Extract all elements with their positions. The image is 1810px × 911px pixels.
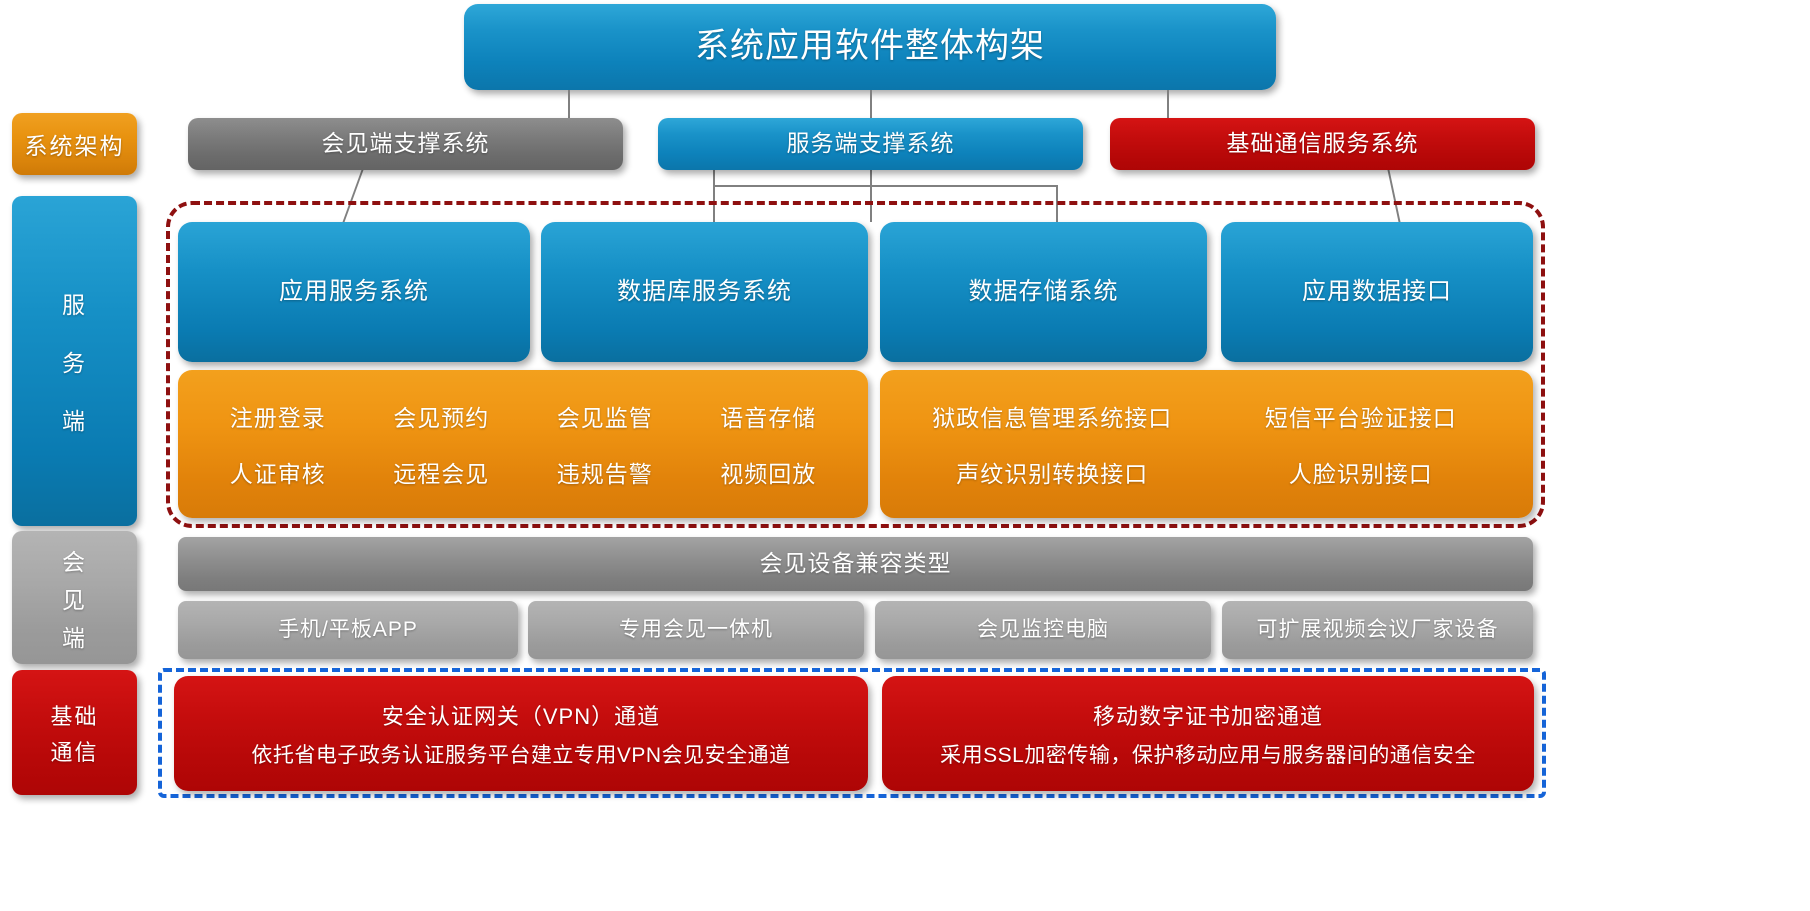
comm-channel-vpn-title: 安全认证网关（VPN）通道	[382, 699, 660, 731]
feature-item-meeting-booking[interactable]: 会见预约	[360, 388, 524, 444]
service-box-app-data-interface[interactable]: 应用数据接口	[1221, 222, 1533, 362]
feature-row: 狱政信息管理系统接口 短信平台验证接口	[898, 388, 1515, 444]
architecture-diagram: 系统应用软件整体构架 系统架构 服 务 端 会 见 端 基础 通信 会见端支撑系…	[0, 0, 1810, 911]
device-box-dedicated-terminal[interactable]: 专用会见一体机	[528, 601, 864, 659]
feature-item-prison-admin-interface[interactable]: 狱政信息管理系统接口	[898, 388, 1207, 444]
feature-item-voice-storage[interactable]: 语音存储	[687, 388, 851, 444]
connector-title-to-comm	[1167, 90, 1169, 119]
feature-item-sms-verify-interface[interactable]: 短信平台验证接口	[1207, 388, 1516, 444]
sidebar-item-architecture[interactable]: 系统架构	[12, 113, 137, 175]
comm-channel-vpn-gateway[interactable]: 安全认证网关（VPN）通道 依托省电子政务认证服务平台建立专用VPN会见安全通道	[174, 676, 868, 791]
sidebar-client-char-2: 端	[62, 619, 87, 653]
service-box-data-storage[interactable]: 数据存储系统	[880, 222, 1207, 362]
sidebar-server-char-0: 服	[62, 286, 87, 320]
sidebar-item-server[interactable]: 服 务 端	[12, 196, 137, 526]
comm-channel-mobile-cert-desc: 采用SSL加密传输，保护移动应用与服务器间的通信安全	[940, 739, 1476, 769]
connector-server-horizontal	[713, 185, 1058, 187]
sidebar-item-architecture-label: 系统架构	[25, 127, 125, 161]
feature-item-meeting-supervision[interactable]: 会见监管	[523, 388, 687, 444]
feature-row: 注册登录 会见预约 会见监管 语音存储	[196, 388, 850, 444]
system-box-server-support[interactable]: 服务端支撑系统	[658, 118, 1083, 170]
feature-row: 声纹识别转换接口 人脸识别接口	[898, 444, 1515, 500]
system-box-client-support[interactable]: 会见端支撑系统	[188, 118, 623, 170]
feature-item-identity-review[interactable]: 人证审核	[196, 444, 360, 500]
sidebar-client-char-0: 会	[62, 543, 87, 577]
connector-title-to-client	[568, 90, 570, 119]
sidebar-client-char-1: 见	[62, 581, 87, 615]
device-box-mobile-app[interactable]: 手机/平板APP	[178, 601, 518, 659]
sidebar-item-communication-label: 基础 通信	[50, 699, 98, 767]
diagram-title: 系统应用软件整体构架	[464, 4, 1276, 90]
sidebar-server-char-2: 端	[62, 402, 87, 436]
comm-channel-mobile-cert[interactable]: 移动数字证书加密通道 采用SSL加密传输，保护移动应用与服务器间的通信安全	[882, 676, 1534, 791]
sidebar-item-client-label: 会 见 端	[62, 543, 87, 653]
sidebar-server-char-1: 务	[62, 344, 87, 378]
feature-panel-business: 注册登录 会见预约 会见监管 语音存储 人证审核 远程会见 违规告警 视频回放	[178, 370, 868, 518]
sidebar-item-communication[interactable]: 基础 通信	[12, 670, 137, 795]
feature-item-remote-meeting[interactable]: 远程会见	[360, 444, 524, 500]
service-box-app-service[interactable]: 应用服务系统	[178, 222, 530, 362]
feature-item-register-login[interactable]: 注册登录	[196, 388, 360, 444]
sidebar-item-client[interactable]: 会 见 端	[12, 531, 137, 664]
feature-item-video-playback[interactable]: 视频回放	[687, 444, 851, 500]
feature-row: 人证审核 远程会见 违规告警 视频回放	[196, 444, 850, 500]
sidebar-comm-line-1: 通信	[50, 735, 98, 767]
sidebar-comm-line-0: 基础	[50, 699, 98, 731]
feature-item-voiceprint-interface[interactable]: 声纹识别转换接口	[898, 444, 1207, 500]
system-box-comm-support[interactable]: 基础通信服务系统	[1110, 118, 1535, 170]
comm-channel-mobile-cert-title: 移动数字证书加密通道	[1093, 699, 1323, 731]
comm-channel-vpn-desc: 依托省电子政务认证服务平台建立专用VPN会见安全通道	[251, 739, 790, 769]
sidebar-item-server-label: 服 务 端	[62, 286, 87, 436]
device-box-monitor-pc[interactable]: 会见监控电脑	[875, 601, 1211, 659]
feature-item-face-recognition-interface[interactable]: 人脸识别接口	[1207, 444, 1516, 500]
device-box-vendor-video[interactable]: 可扩展视频会议厂家设备	[1222, 601, 1533, 659]
feature-item-violation-alarm[interactable]: 违规告警	[523, 444, 687, 500]
feature-panel-interfaces: 狱政信息管理系统接口 短信平台验证接口 声纹识别转换接口 人脸识别接口	[880, 370, 1533, 518]
connector-title-to-server	[870, 90, 872, 119]
service-box-db-service[interactable]: 数据库服务系统	[541, 222, 868, 362]
compat-bar[interactable]: 会见设备兼容类型	[178, 537, 1533, 591]
